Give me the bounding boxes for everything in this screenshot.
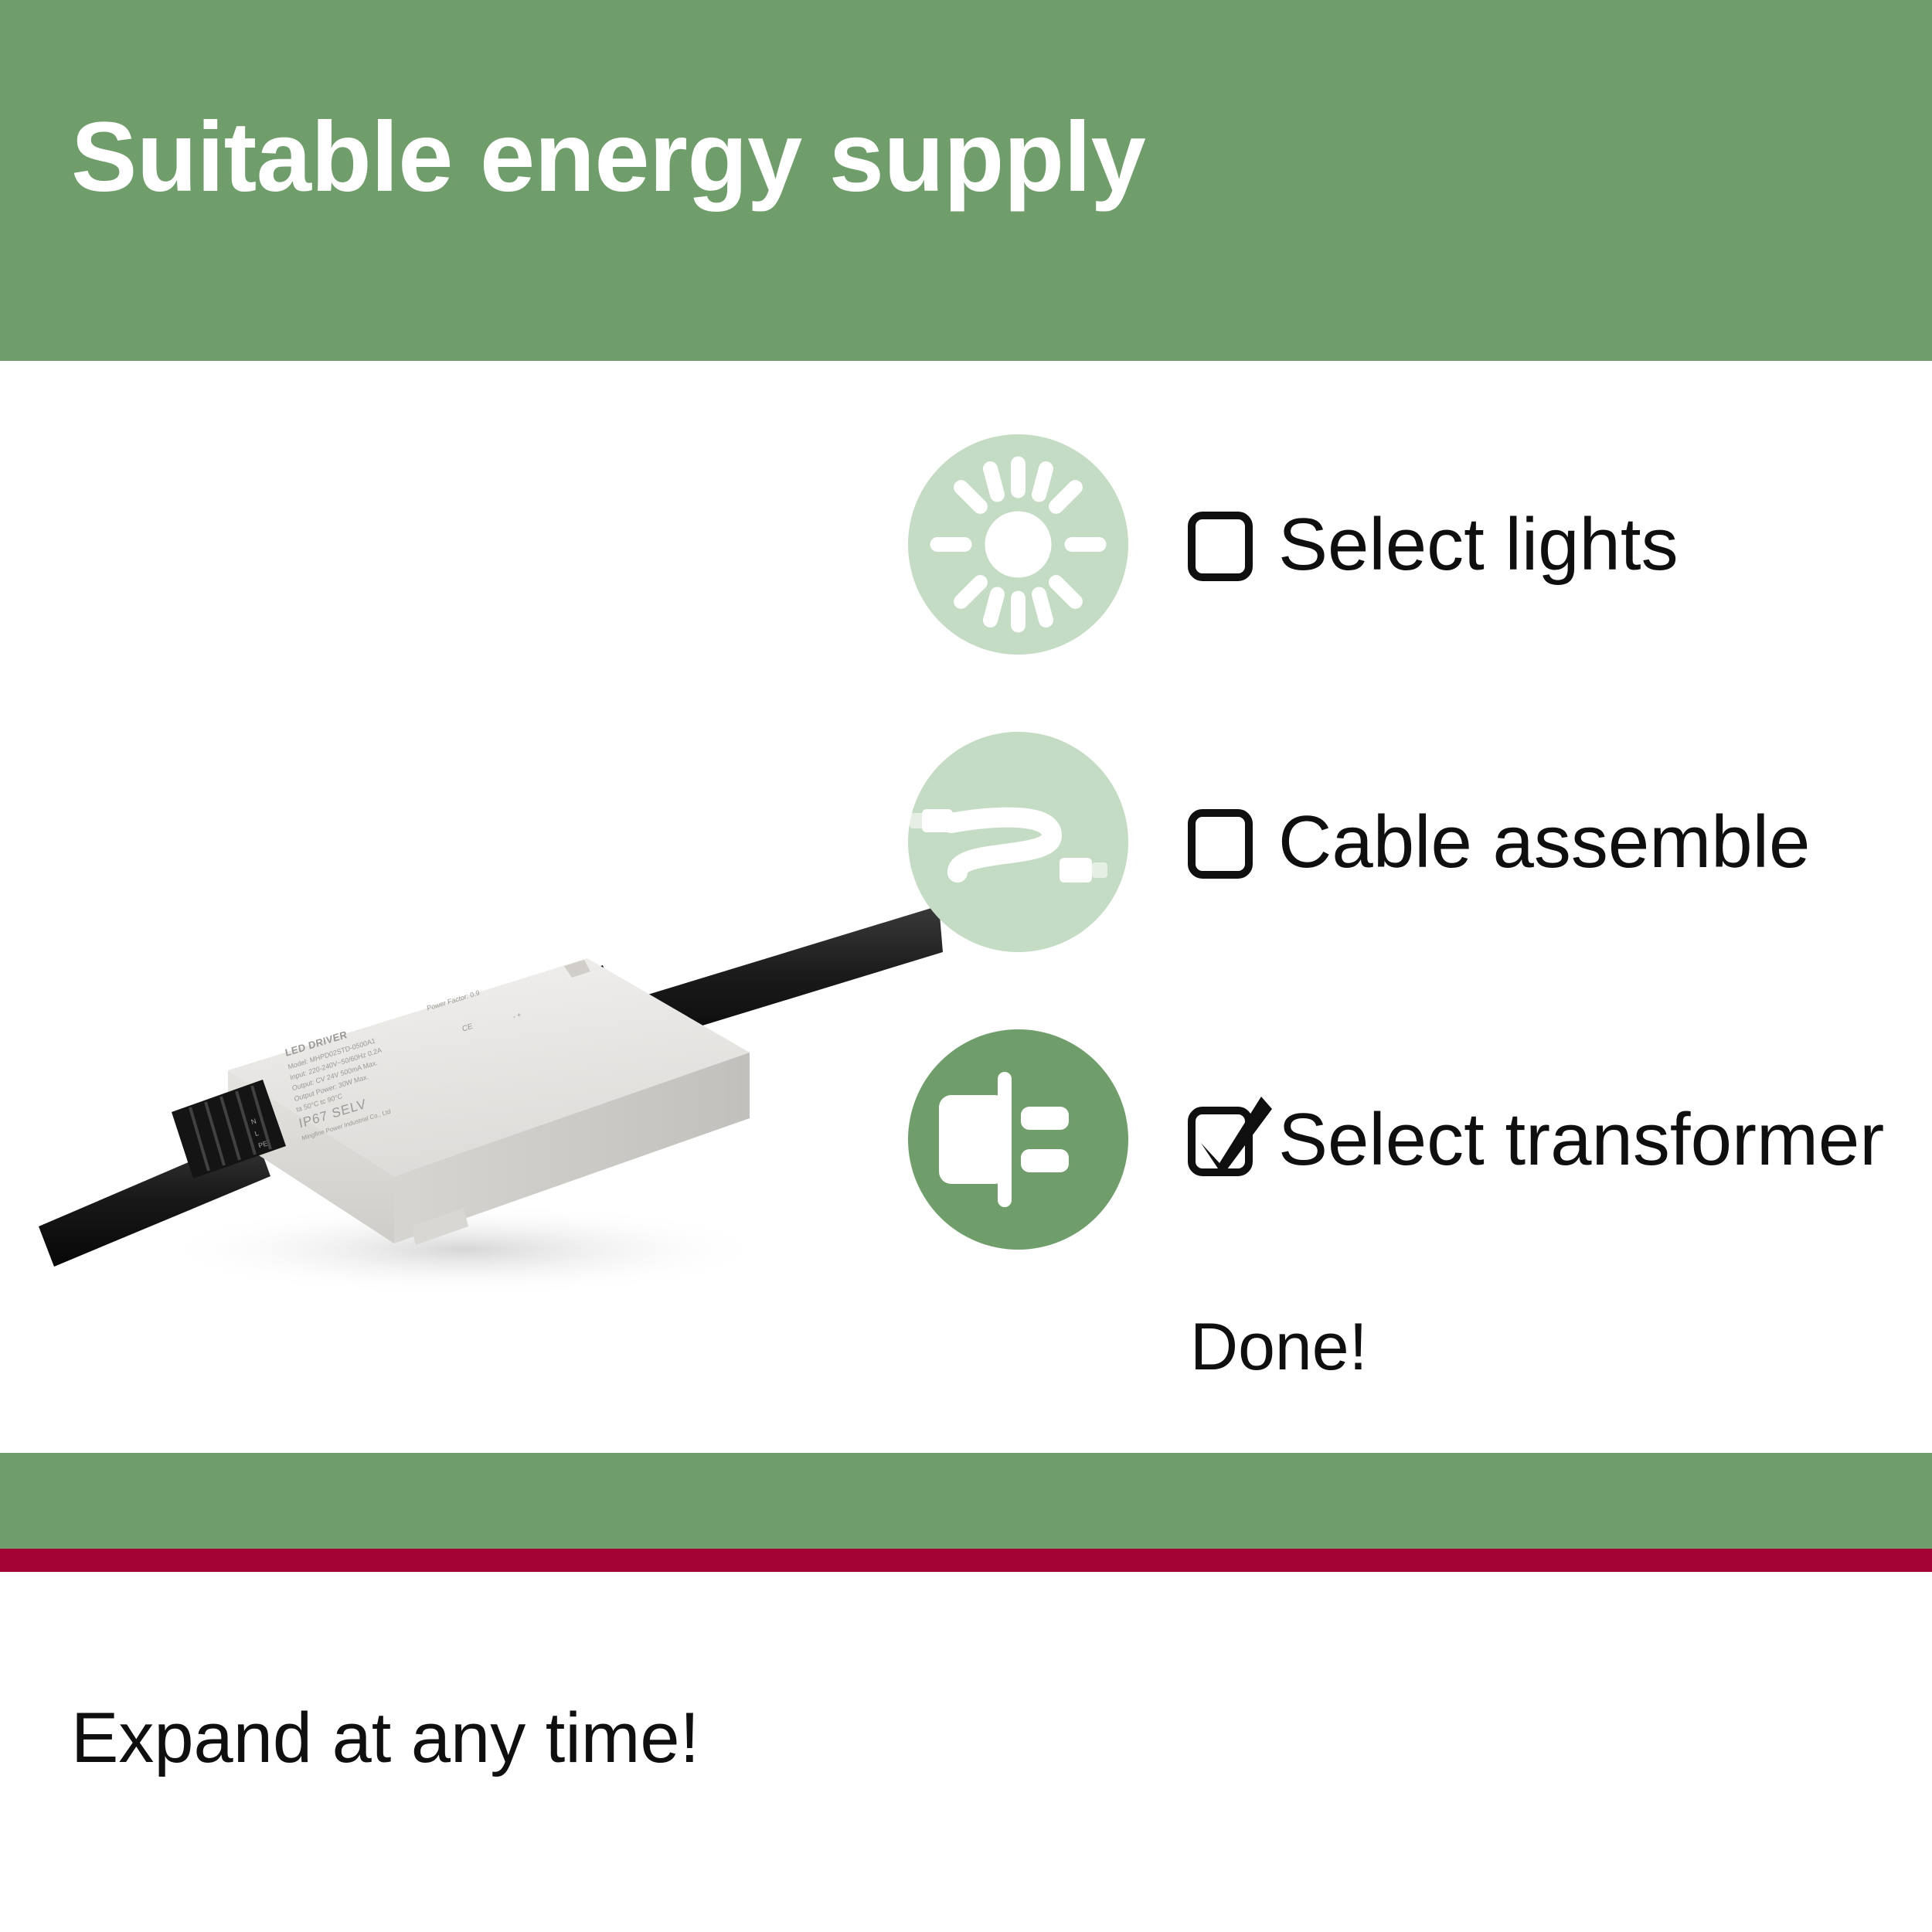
select-lights-target[interactable]: Select lights — [1190, 508, 1679, 582]
cable-icon-bubble — [908, 732, 1128, 952]
checklist-label: Select transformer — [1278, 1103, 1884, 1177]
sun-icon — [908, 434, 1128, 655]
cable-assemble-target[interactable]: Cable assemble — [1190, 805, 1810, 879]
checklist-row-select-transformer[interactable]: Select transformer — [908, 1029, 1913, 1250]
select-transformer-target[interactable]: Select transformer — [1190, 1103, 1884, 1177]
page-title: Suitable energy supply — [71, 108, 1145, 207]
status-done-text: Done! — [1190, 1314, 1368, 1380]
cable-icon — [908, 732, 1128, 952]
checklist: Select lights — [908, 434, 1913, 1327]
footer-red-rule — [0, 1549, 1932, 1572]
plug-icon-bubble — [908, 1029, 1128, 1250]
main-content-area: LED DRIVER Model: MHPD02STD-0500A1 Input… — [0, 361, 1932, 1453]
checkbox-select-lights[interactable] — [1190, 514, 1246, 576]
checkbox-cable-assemble[interactable] — [1190, 811, 1246, 873]
checklist-label: Select lights — [1278, 508, 1679, 582]
checklist-row-cable-assemble[interactable]: Cable assemble — [908, 732, 1913, 952]
sun-icon-bubble — [908, 434, 1128, 655]
plug-icon — [908, 1029, 1128, 1250]
checkbox-select-transformer[interactable] — [1190, 1109, 1246, 1171]
checklist-row-select-lights[interactable]: Select lights — [908, 434, 1913, 655]
checklist-label: Cable assemble — [1278, 805, 1810, 879]
header-band: Suitable energy supply — [0, 0, 1932, 361]
footer-note: Expand at any time! — [71, 1702, 699, 1774]
led-driver-product-image: LED DRIVER Model: MHPD02STD-0500A1 Input… — [31, 863, 943, 1327]
footer-green-rule — [0, 1453, 1932, 1549]
